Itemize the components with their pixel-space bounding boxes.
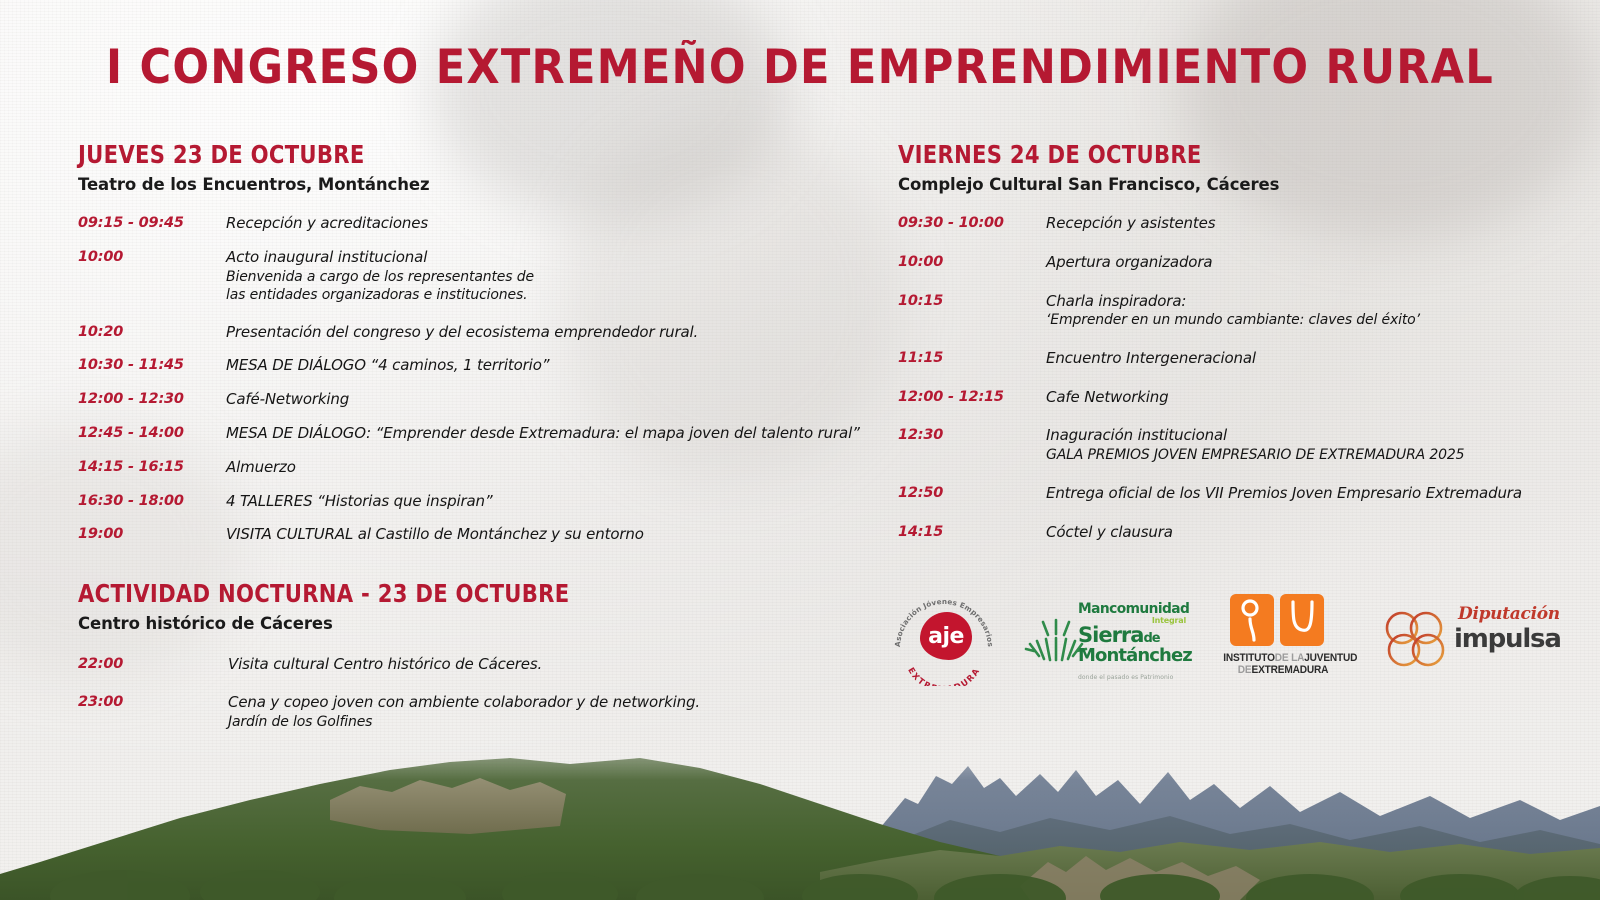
instituto-line1: INSTITUTODE LAJUVENTUD bbox=[1223, 652, 1343, 664]
schedule-time: 19:00 bbox=[78, 525, 226, 542]
schedule-row: 14:15 Cóctel y clausura bbox=[898, 523, 1548, 543]
schedule-desc: Acto inaugural institucional Bienvenida … bbox=[226, 248, 534, 305]
schedule-time: 12:50 bbox=[898, 484, 1046, 501]
schedule-desc-main: Recepción y acreditaciones bbox=[226, 214, 428, 232]
diputacion-rings-icon bbox=[1380, 608, 1454, 670]
schedule-row: 12:45 - 14:00 MESA DE DIÁLOGO: “Emprende… bbox=[78, 424, 878, 444]
mancomunidad-tagline: donde el pasado es Patrimonio bbox=[1078, 674, 1173, 681]
schedule-row: 09:15 - 09:45 Recepción y acreditaciones bbox=[78, 214, 878, 234]
schedule-desc-main: Acto inaugural institucional bbox=[226, 248, 427, 266]
schedule-row: 10:15 Charla inspiradora: ‘Emprender en … bbox=[898, 292, 1548, 330]
schedule-row: 12:50 Entrega oficial de los VII Premios… bbox=[898, 484, 1548, 504]
schedule-desc-main: Inaguración institucional bbox=[1046, 426, 1227, 444]
schedule-desc-main: 4 TALLERES “Historias que inspiran” bbox=[226, 492, 493, 510]
schedule-row: 22:00 Visita cultural Centro histórico d… bbox=[78, 655, 878, 675]
schedule-row: 16:30 - 18:00 4 TALLERES “Historias que … bbox=[78, 492, 878, 512]
schedule-time: 09:15 - 09:45 bbox=[78, 214, 226, 231]
schedule-desc: 4 TALLERES “Historias que inspiran” bbox=[226, 492, 493, 512]
mancomunidad-wordmark: Mancomunidad Integral Sierrade Montánche… bbox=[1078, 602, 1188, 665]
instituto-word-dela: DE LA bbox=[1275, 652, 1304, 664]
day-column-thursday: JUEVES 23 DE OCTUBRE Teatro de los Encue… bbox=[78, 140, 878, 749]
schedule-desc-sub: GALA PREMIOS JOVEN EMPRESARIO DE EXTREMA… bbox=[1046, 446, 1464, 464]
schedule-desc: Café-Networking bbox=[226, 390, 349, 410]
instituto-word-de: DE bbox=[1238, 664, 1252, 676]
day-heading-friday: VIERNES 24 DE OCTUBRE bbox=[898, 140, 1509, 169]
schedule-desc-main: Entrega oficial de los VII Premios Joven… bbox=[1046, 484, 1522, 502]
logo-instituto-juventud: INSTITUTODE LAJUVENTUD DEEXTREMADURA bbox=[1218, 594, 1348, 686]
schedule-desc-sub: Jardín de los Golfines bbox=[228, 713, 700, 731]
schedule-row: 10:30 - 11:45 MESA DE DIÁLOGO “4 caminos… bbox=[78, 356, 878, 376]
instituto-word-juventud: JUVENTUD bbox=[1304, 652, 1357, 664]
schedule-desc: VISITA CULTURAL al Castillo de Montánche… bbox=[226, 525, 644, 545]
instituto-word-instituto: INSTITUTO bbox=[1223, 652, 1275, 664]
logo-diputacion-impulsa: Diputación impulsa bbox=[1380, 600, 1560, 680]
night-heading: ACTIVIDAD NOCTURNA - 23 DE OCTUBRE bbox=[78, 579, 830, 608]
schedule-desc: Recepción y acreditaciones bbox=[226, 214, 428, 234]
schedule-row: 23:00 Cena y copeo joven con ambiente co… bbox=[78, 693, 878, 731]
day-heading-thursday: JUEVES 23 DE OCTUBRE bbox=[78, 140, 830, 169]
schedule-row: 12:30 Inaguración institucional GALA PRE… bbox=[898, 426, 1548, 464]
schedule-desc-main: Apertura organizadora bbox=[1046, 253, 1212, 271]
schedule-desc: Apertura organizadora bbox=[1046, 253, 1212, 273]
night-venue: Centro histórico de Cáceres bbox=[78, 614, 878, 633]
schedule-time: 12:00 - 12:30 bbox=[78, 390, 226, 407]
schedule-desc: MESA DE DIÁLOGO “4 caminos, 1 territorio… bbox=[226, 356, 549, 376]
schedule-desc: Cóctel y clausura bbox=[1046, 523, 1173, 543]
page-title: I CONGRESO EXTREMEÑO DE EMPRENDIMIENTO R… bbox=[0, 40, 1600, 95]
instituto-figure-icon bbox=[1230, 594, 1274, 646]
schedule-time: 10:15 bbox=[898, 292, 1046, 309]
day-venue-thursday: Teatro de los Encuentros, Montánchez bbox=[78, 175, 878, 194]
day-column-friday: VIERNES 24 DE OCTUBRE Complejo Cultural … bbox=[898, 140, 1548, 561]
logo-mancomunidad: Mancomunidad Integral Sierrade Montánche… bbox=[1022, 594, 1187, 686]
schedule-desc-main: Presentación del congreso y del ecosiste… bbox=[226, 323, 698, 341]
mancomunidad-integral: Integral bbox=[1152, 617, 1186, 625]
schedule-row: 10:00 Acto inaugural institucional Bienv… bbox=[78, 248, 878, 305]
schedule-time: 10:30 - 11:45 bbox=[78, 356, 226, 373]
schedule-desc-main: Cóctel y clausura bbox=[1046, 523, 1173, 541]
schedule-time: 22:00 bbox=[78, 655, 228, 672]
schedule-row: 10:00 Apertura organizadora bbox=[898, 253, 1548, 273]
schedule-time: 14:15 - 16:15 bbox=[78, 458, 226, 475]
schedule-list-night: 22:00 Visita cultural Centro histórico d… bbox=[78, 655, 878, 731]
schedule-desc-main: Charla inspiradora: bbox=[1046, 292, 1186, 310]
instituto-icon-right bbox=[1280, 594, 1324, 646]
schedule-desc: Charla inspiradora: ‘Emprender en un mun… bbox=[1046, 292, 1420, 330]
schedule-desc-main: VISITA CULTURAL al Castillo de Montánche… bbox=[226, 525, 644, 543]
schedule-row: 09:30 - 10:00 Recepción y asistentes bbox=[898, 214, 1548, 234]
schedule-desc-main: Cafe Networking bbox=[1046, 388, 1169, 406]
aje-wordmark: aje bbox=[920, 612, 972, 660]
mancomunidad-line1: Mancomunidad bbox=[1078, 602, 1183, 617]
schedule-desc: Encuentro Intergeneracional bbox=[1046, 349, 1256, 369]
schedule-desc-main: Café-Networking bbox=[226, 390, 349, 408]
schedule-time: 09:30 - 10:00 bbox=[898, 214, 1046, 231]
schedule-desc-sub: ‘Emprender en un mundo cambiante: claves… bbox=[1046, 311, 1420, 329]
schedule-row: 11:15 Encuentro Intergeneracional bbox=[898, 349, 1548, 369]
schedule-desc: Presentación del congreso y del ecosiste… bbox=[226, 323, 698, 343]
schedule-row: 19:00 VISITA CULTURAL al Castillo de Mon… bbox=[78, 525, 878, 545]
schedule-desc-main: Visita cultural Centro histórico de Cáce… bbox=[228, 655, 542, 673]
schedule-row: 14:15 - 16:15 Almuerzo bbox=[78, 458, 878, 478]
schedule-list-thursday: 09:15 - 09:45 Recepción y acreditaciones… bbox=[78, 214, 878, 545]
schedule-desc-main: MESA DE DIÁLOGO: “Emprender desde Extrem… bbox=[226, 424, 860, 442]
schedule-time: 11:15 bbox=[898, 349, 1046, 366]
diputacion-word: impulsa bbox=[1454, 624, 1561, 654]
schedule-time: 16:30 - 18:00 bbox=[78, 492, 226, 509]
schedule-desc-main: Cena y copeo joven con ambiente colabora… bbox=[228, 693, 700, 711]
schedule-desc-main: MESA DE DIÁLOGO “4 caminos, 1 territorio… bbox=[226, 356, 549, 374]
schedule-desc: Cena y copeo joven con ambiente colabora… bbox=[228, 693, 700, 731]
day-venue-friday: Complejo Cultural San Francisco, Cáceres bbox=[898, 175, 1548, 194]
instituto-line2: DEEXTREMADURA bbox=[1223, 664, 1343, 676]
schedule-time: 10:00 bbox=[78, 248, 226, 265]
schedule-desc-main: Almuerzo bbox=[226, 458, 296, 476]
schedule-time: 23:00 bbox=[78, 693, 228, 710]
instituto-word-extremadura: EXTREMADURA bbox=[1252, 664, 1329, 676]
schedule-desc-main: Encuentro Intergeneracional bbox=[1046, 349, 1256, 367]
svg-text:EXTREMADURA: EXTREMADURA bbox=[906, 665, 982, 686]
instituto-hook-icon bbox=[1280, 594, 1324, 646]
schedule-time: 12:00 - 12:15 bbox=[898, 388, 1046, 405]
schedule-desc-main: Recepción y asistentes bbox=[1046, 214, 1215, 232]
schedule-desc: Inaguración institucional GALA PREMIOS J… bbox=[1046, 426, 1464, 464]
schedule-time: 14:15 bbox=[898, 523, 1046, 540]
mancomunidad-sierra: Sierra bbox=[1078, 623, 1143, 647]
mancomunidad-de: de bbox=[1143, 631, 1159, 646]
schedule-desc: Almuerzo bbox=[226, 458, 296, 478]
schedule-desc: Entrega oficial de los VII Premios Joven… bbox=[1046, 484, 1522, 504]
schedule-desc-sub: Bienvenida a cargo de los representantes… bbox=[226, 268, 534, 305]
schedule-row: 10:20 Presentación del congreso y del ec… bbox=[78, 323, 878, 343]
logo-aje: Asociación Jóvenes Empresarios EXTREMADU… bbox=[888, 590, 1000, 686]
schedule-time: 10:00 bbox=[898, 253, 1046, 270]
mancomunidad-line2: Sierrade bbox=[1078, 625, 1188, 646]
mancomunidad-line3: Montánchez bbox=[1078, 647, 1188, 665]
instituto-icon-left bbox=[1230, 594, 1274, 646]
schedule-time: 10:20 bbox=[78, 323, 226, 340]
schedule-row: 12:00 - 12:30 Café-Networking bbox=[78, 390, 878, 410]
schedule-time: 12:45 - 14:00 bbox=[78, 424, 226, 441]
schedule-desc: Cafe Networking bbox=[1046, 388, 1169, 408]
schedule-desc: Visita cultural Centro histórico de Cáce… bbox=[228, 655, 542, 675]
sponsor-logos: Asociación Jóvenes Empresarios EXTREMADU… bbox=[880, 588, 1560, 688]
schedule-desc: MESA DE DIÁLOGO: “Emprender desde Extrem… bbox=[226, 424, 860, 444]
schedule-list-friday: 09:30 - 10:00 Recepción y asistentes 10:… bbox=[898, 214, 1548, 542]
schedule-row: 12:00 - 12:15 Cafe Networking bbox=[898, 388, 1548, 408]
schedule-desc: Recepción y asistentes bbox=[1046, 214, 1215, 234]
schedule-time: 12:30 bbox=[898, 426, 1046, 443]
diputacion-script: Diputación bbox=[1458, 604, 1560, 624]
